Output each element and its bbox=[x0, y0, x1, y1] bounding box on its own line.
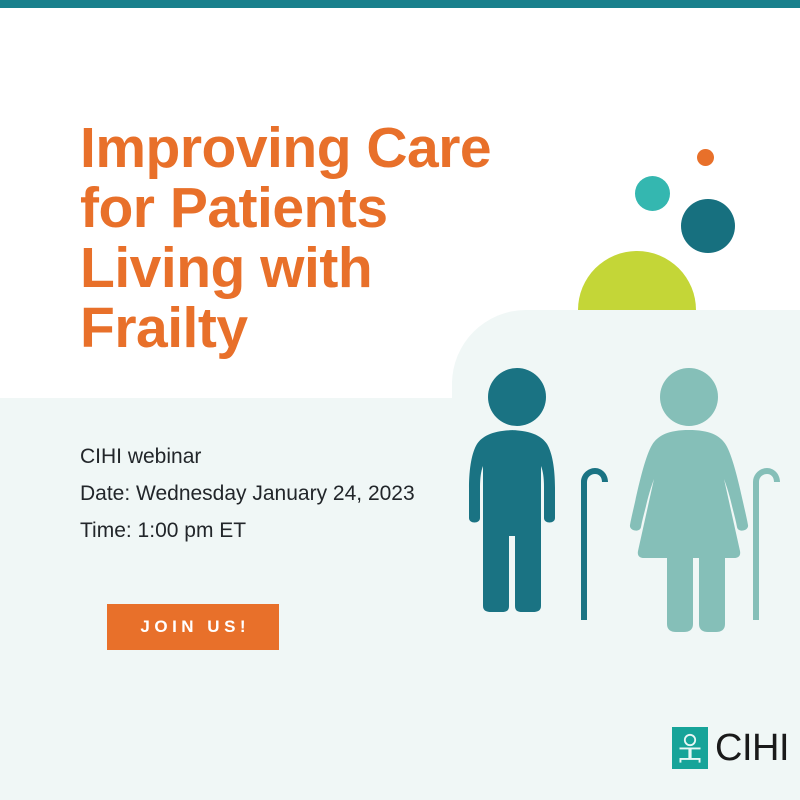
female-figure-with-cane bbox=[630, 368, 780, 632]
cihi-wordmark: CIHI bbox=[715, 729, 789, 767]
orange-dot-icon bbox=[697, 149, 714, 166]
cihi-figure-mark-icon bbox=[672, 727, 708, 769]
date-line: Date: Wednesday January 24, 2023 bbox=[80, 475, 480, 512]
light-teal-circle-icon bbox=[635, 176, 670, 211]
join-us-button[interactable]: JOIN US! bbox=[107, 604, 279, 650]
dark-teal-circle-icon bbox=[681, 199, 735, 253]
top-accent-bar bbox=[0, 0, 800, 8]
male-figure-with-cane bbox=[469, 368, 608, 620]
webinar-details: CIHI webinar Date: Wednesday January 24,… bbox=[80, 438, 480, 549]
poster-canvas: Improving Care for Patients Living with … bbox=[0, 0, 800, 800]
green-dome-shape bbox=[578, 251, 696, 310]
organization-line: CIHI webinar bbox=[80, 438, 480, 475]
seniors-illustration bbox=[455, 360, 800, 650]
time-line: Time: 1:00 pm ET bbox=[80, 512, 480, 549]
page-title: Improving Care for Patients Living with … bbox=[80, 118, 520, 358]
cihi-logo: CIHI bbox=[672, 727, 789, 769]
